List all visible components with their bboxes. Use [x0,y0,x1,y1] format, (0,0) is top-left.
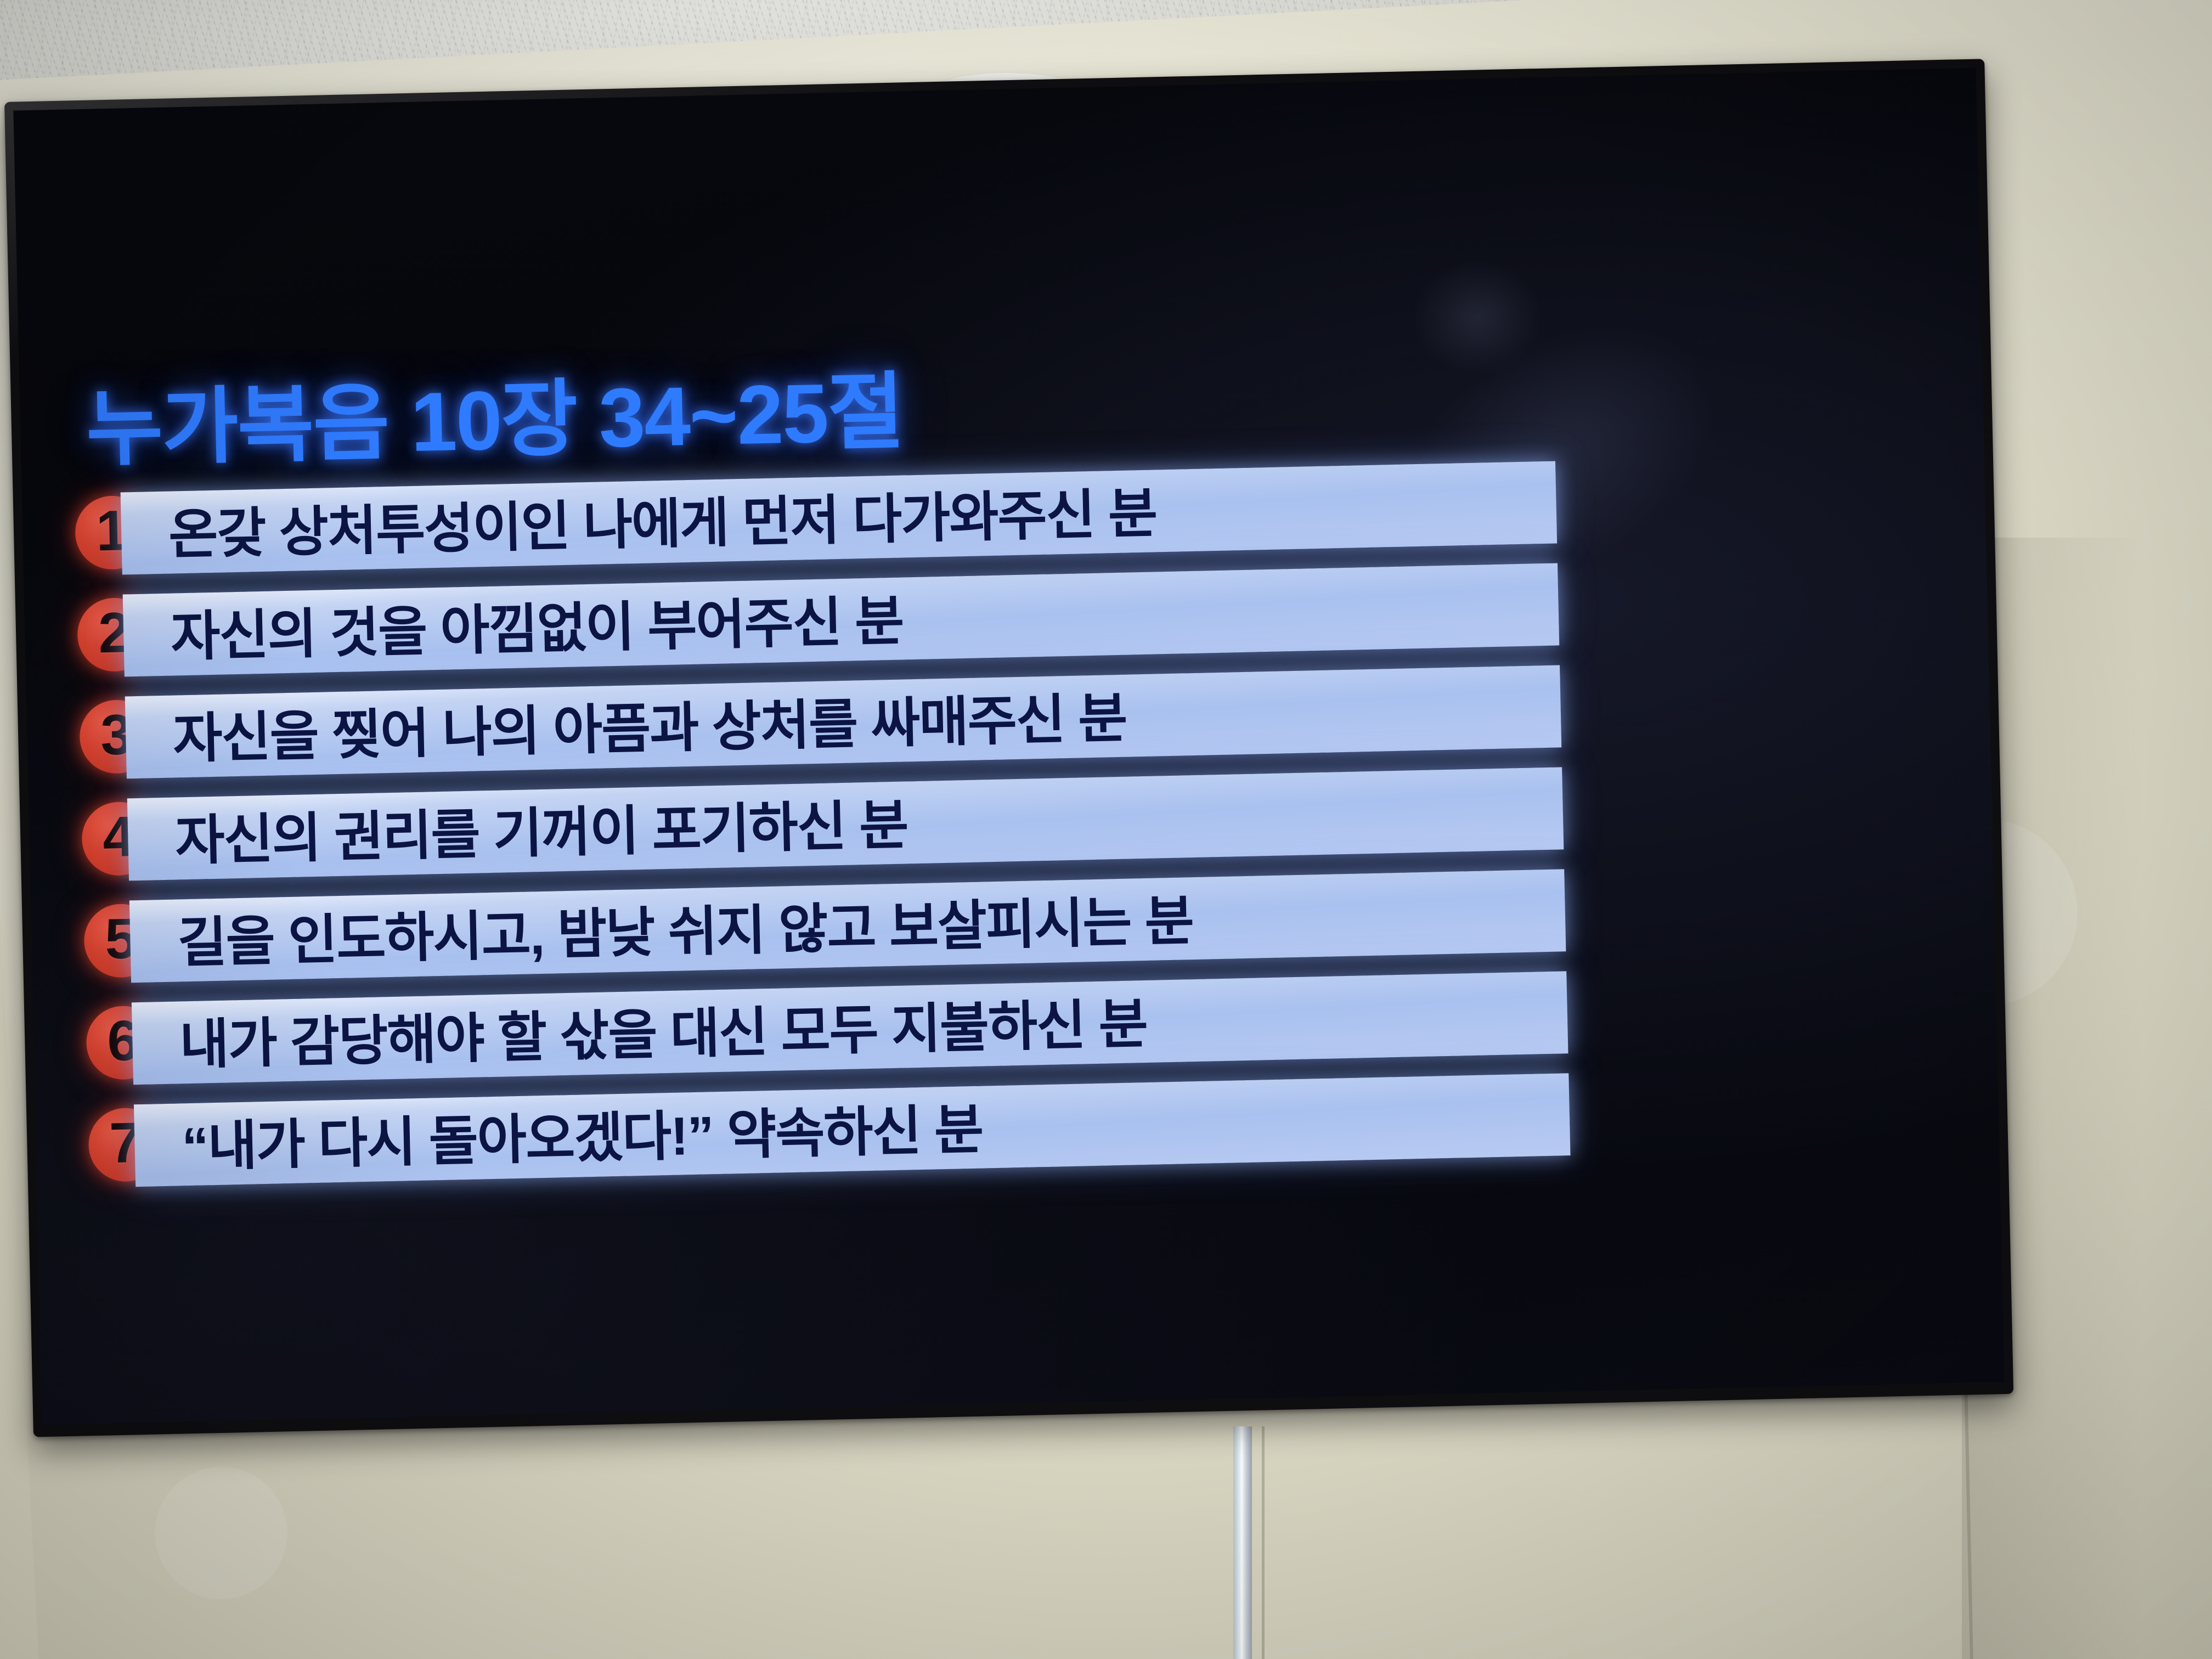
tv-screen[interactable]: 누가복음 10장 34~25절 1 온갖 상처투성이인 나에게 먼저 다가와주신… [13,68,2004,1425]
wall-seam-lower [1262,1426,1265,1659]
list-item-text: “내가 다시 돌아오겠다!” 약속하신 분 [134,1086,984,1183]
list-item-bar: 자신의 것을 아낌없이 부어주신 분 [123,563,1560,676]
list-item-bar: “내가 다시 돌아오겠다!” 약속하신 분 [134,1073,1571,1187]
photo-scene: 누가복음 10장 34~25절 1 온갖 상처투성이인 나에게 먼저 다가와주신… [0,0,2212,1659]
list-item-bar: 길을 인도하시고, 밤낮 쉬지 않고 보살피시는 분 [129,869,1566,983]
list-item: 3 자신을 찢어 나의 아픔과 상처를 싸매주신 분 [79,665,1562,780]
list-item: 7 “내가 다시 돌아오겠다!” 약속하신 분 [88,1073,1571,1188]
metal-pole-lower [1233,1426,1252,1659]
list-item-text: 내가 감당해야 할 삯을 대신 모두 지불하신 분 [132,980,1148,1080]
list-item-bar: 온갖 상처투성이인 나에게 먼저 다가와주신 분 [121,461,1558,574]
list-item-bar: 내가 감당해야 할 삯을 대신 모두 지불하신 분 [132,971,1568,1085]
list-item-bar: 자신의 권리를 기꺼이 포기하신 분 [127,767,1564,881]
list-item: 6 내가 감당해야 할 삯을 대신 모두 지불하신 분 [86,971,1568,1086]
list-item: 4 자신의 권리를 기꺼이 포기하신 분 [81,767,1564,882]
television[interactable]: 누가복음 10장 34~25절 1 온갖 상처투성이인 나에게 먼저 다가와주신… [4,59,2013,1437]
list-item-text: 자신의 권리를 기꺼이 포기하신 분 [127,781,909,876]
list-item: 2 자신의 것을 아낌없이 부어주신 분 [77,563,1560,678]
slide-title: 누가복음 10장 34~25절 [84,343,904,482]
list-item: 5 길을 인도하시고, 밤낮 쉬지 않고 보살피시는 분 [83,869,1566,984]
list-item-text: 길을 인도하시고, 밤낮 쉬지 않고 보살피시는 분 [129,877,1194,978]
slide-point-list: 1 온갖 상처투성이인 나에게 먼저 다가와주신 분 2 자신의 것을 아낌없이… [75,461,1571,1207]
presentation-slide: 누가복음 10장 34~25절 1 온갖 상처투성이인 나에게 먼저 다가와주신… [13,68,2004,1425]
list-item-text: 자신을 찢어 나의 아픔과 상처를 싸매주신 분 [125,675,1127,775]
list-item-text: 자신의 것을 아낌없이 부어주신 분 [123,578,904,673]
list-item: 1 온갖 상처투성이인 나에게 먼저 다가와주신 분 [75,461,1558,575]
list-item-bar: 자신을 찢어 나의 아픔과 상처를 싸매주신 분 [125,665,1562,778]
list-item-text: 온갖 상처투성이인 나에게 먼저 다가와주신 분 [121,470,1158,570]
